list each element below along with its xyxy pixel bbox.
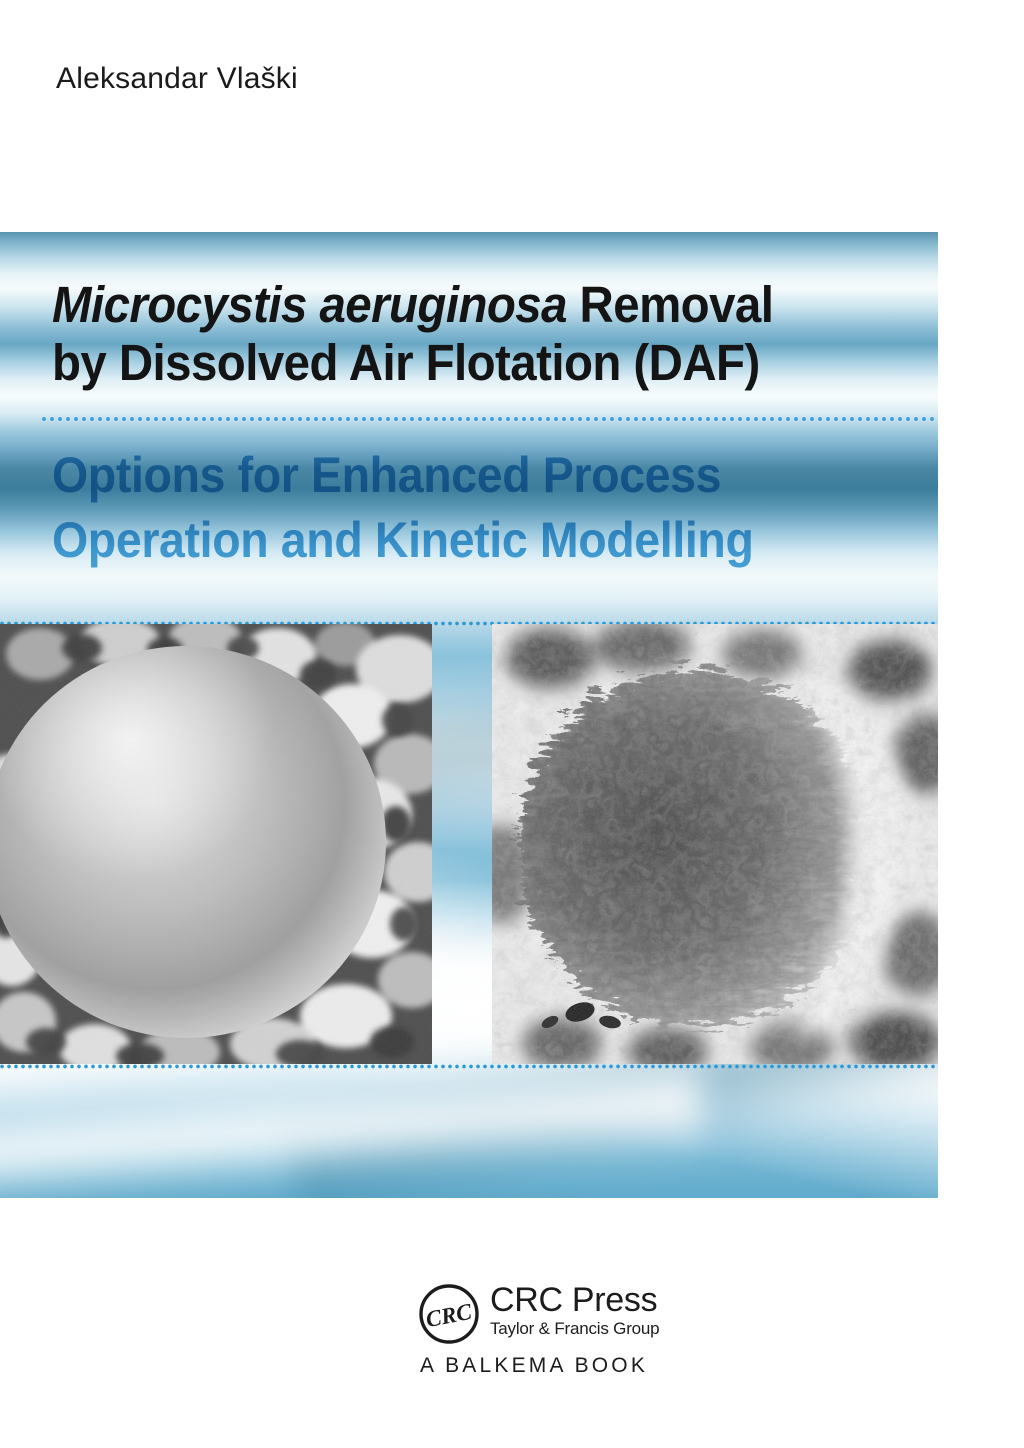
subtitle-line-2: Operation and Kinetic Modelling: [52, 508, 870, 573]
title-line-1: Microcystis aeruginosa Removal: [52, 276, 861, 334]
publisher-logo: CRC CRC Press Taylor & Francis Group A B…: [418, 1283, 678, 1383]
crc-circle-mark: CRC: [418, 1283, 480, 1345]
sem-grain-overlay-right: [492, 624, 938, 1064]
subtitle-line-1: Options for Enhanced Process: [52, 443, 870, 508]
sem-surface-graphic: [492, 624, 938, 1064]
dotted-divider-rule: [42, 416, 938, 422]
dotted-rule-below-photos: [0, 1064, 938, 1069]
author-name: Aleksandar Vlaški: [56, 62, 298, 96]
sem-micrograph-cell: [0, 624, 432, 1064]
species-name: Microcystis aeruginosa: [52, 276, 567, 333]
book-subtitle: Options for Enhanced Process Operation a…: [52, 443, 932, 573]
crc-mark-label: CRC: [424, 1299, 475, 1332]
publisher-name: CRC Press: [490, 1282, 659, 1319]
sem-cell-graphic: [0, 624, 432, 1064]
title-line-1-rest: Removal: [567, 276, 773, 333]
cover-artwork-band: Microcystis aeruginosa Removal by Dissol…: [0, 232, 938, 1198]
publisher-group: Taylor & Francis Group: [490, 1319, 659, 1339]
title-line-2: by Dissolved Air Flotation (DAF): [52, 334, 861, 392]
sem-micrograph-surface: [492, 624, 938, 1064]
sem-grain-overlay: [0, 624, 432, 1064]
book-title: Microcystis aeruginosa Removal by Dissol…: [52, 276, 922, 392]
imprint-label: A BALKEMA BOOK: [420, 1354, 648, 1378]
publisher-wordmark: CRC Press Taylor & Francis Group: [490, 1282, 659, 1339]
